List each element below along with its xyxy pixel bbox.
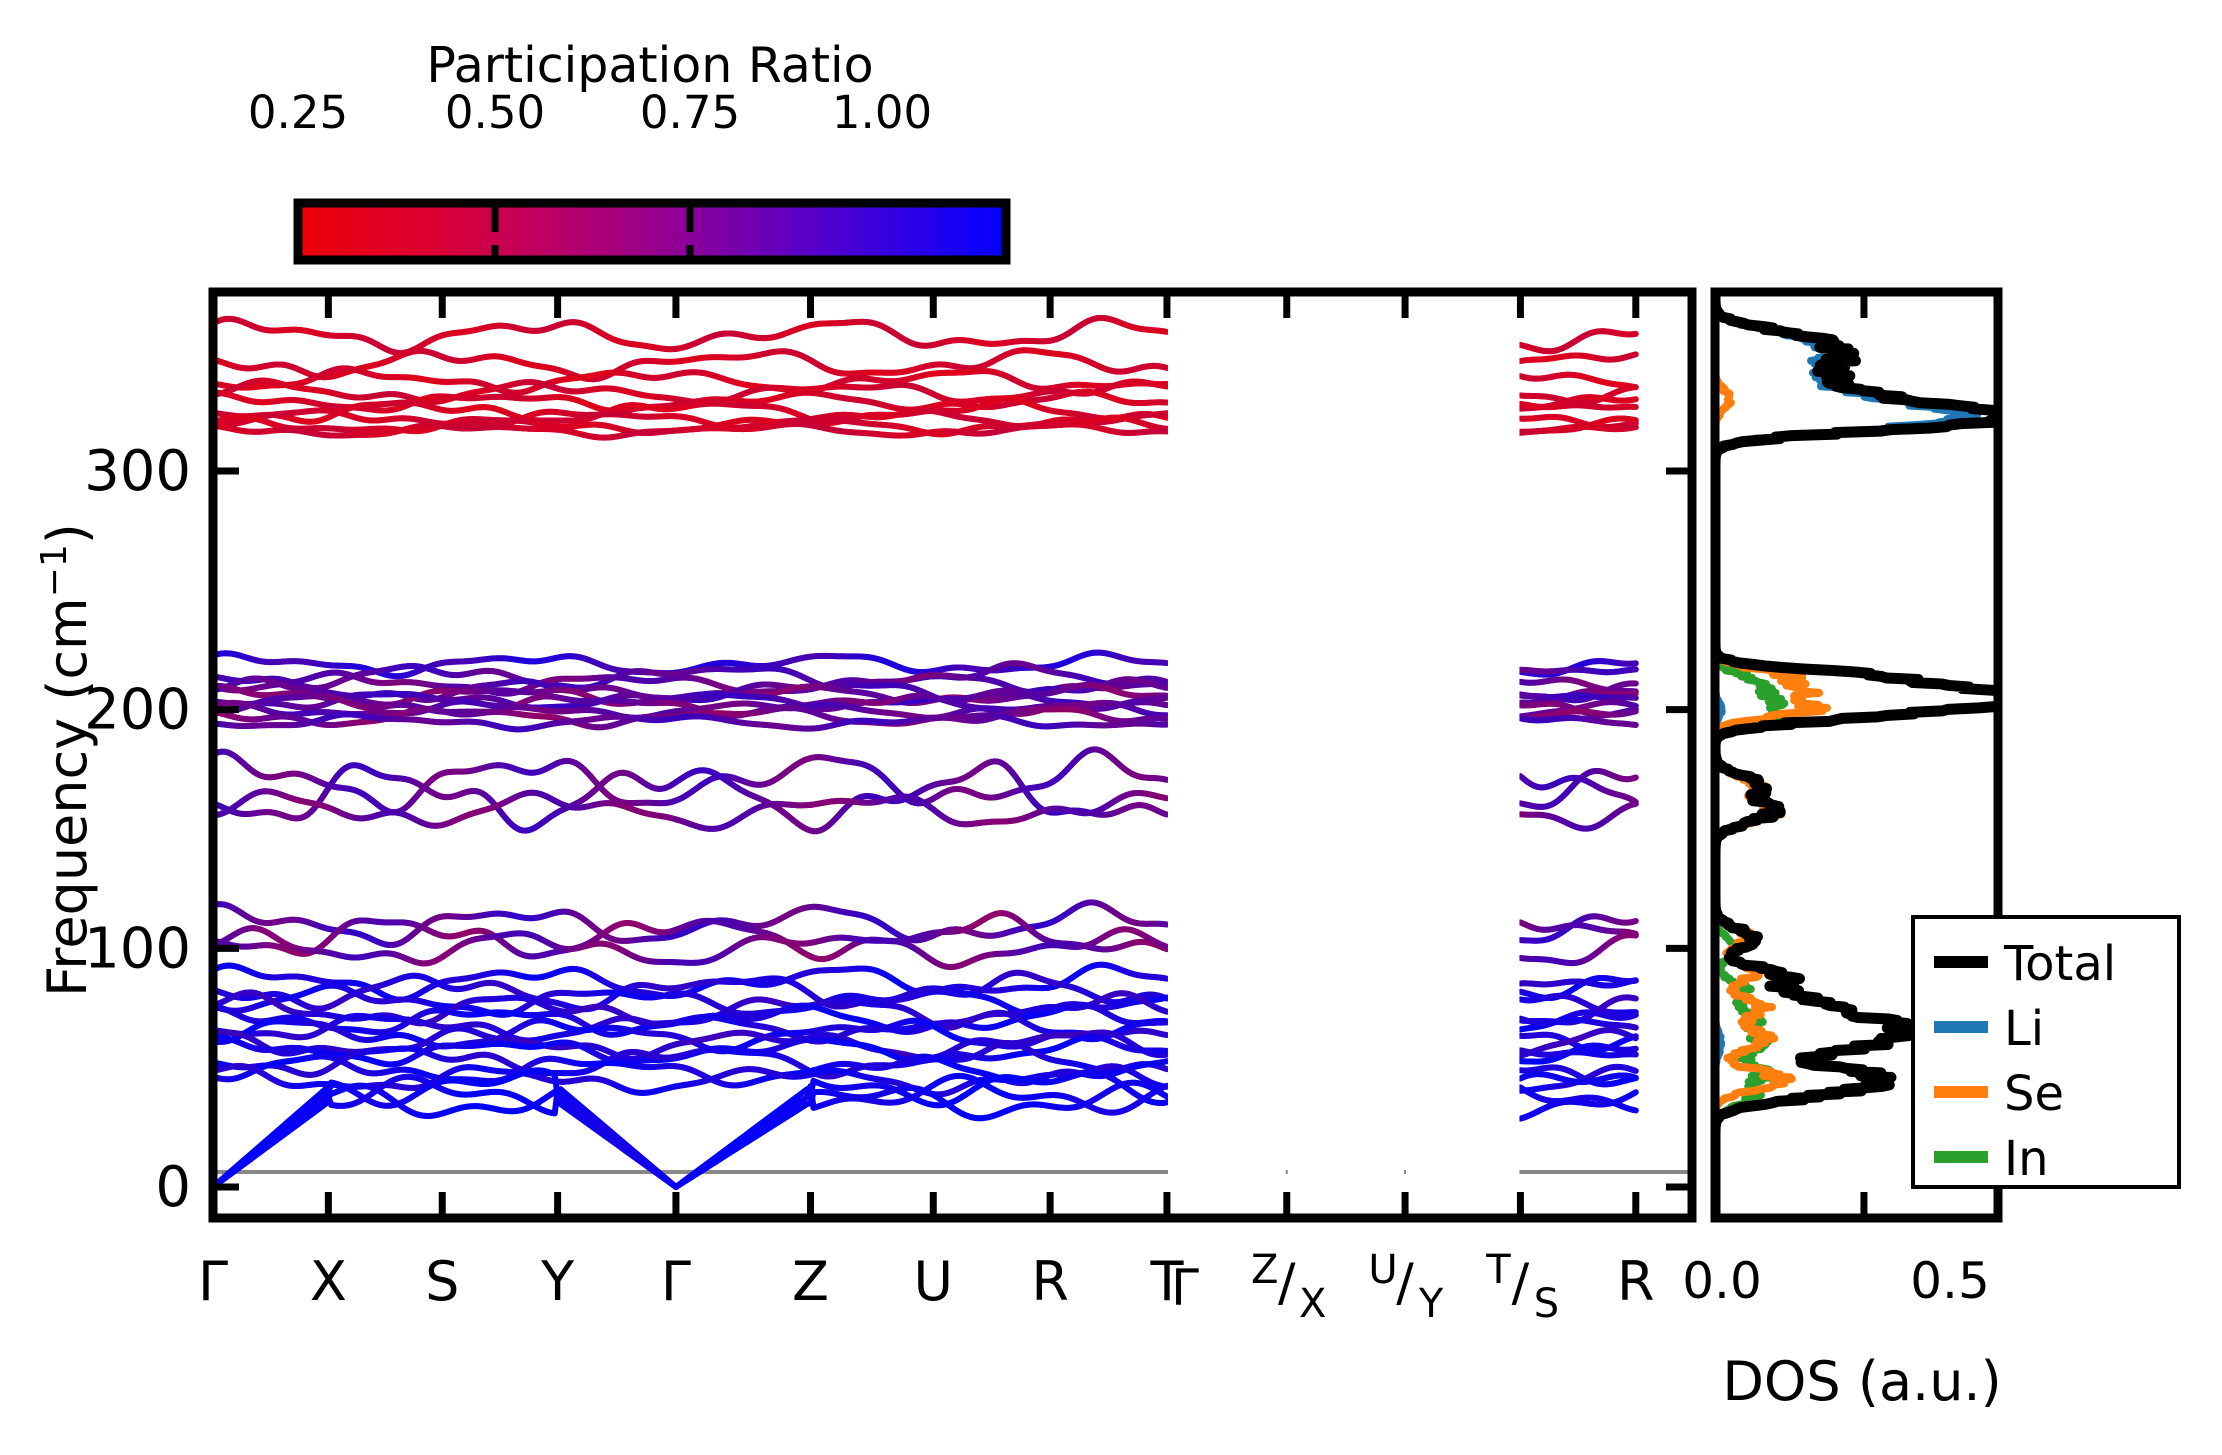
- band-curve-high-1: [1633, 354, 1636, 355]
- phonon-figure: Participation Ratio 0.25 0.50 0.75 1.00 …: [0, 0, 2222, 1455]
- colorbar-tick-label-3: 1.00: [832, 86, 932, 139]
- colorbar-gradient: [298, 203, 1006, 260]
- colorbar-tick-label-2: 0.75: [640, 86, 740, 139]
- band-curve-high-1: [1164, 367, 1167, 368]
- colorbar-tick-label-0: 0.25: [248, 86, 348, 139]
- band-curve-high-0: [1164, 331, 1167, 332]
- band-curve-upper-3: [1164, 687, 1167, 688]
- band-curve-high-5: [1164, 417, 1167, 418]
- band-curve-high-7: [1633, 420, 1636, 421]
- band-curve-high-4: [1633, 399, 1636, 400]
- colorbar-tick-label-1: 0.50: [445, 86, 545, 139]
- band-structure-panel: 0100200300 ΓXSYΓZURTZ/XU/YT/SR Γ: [84, 292, 1692, 1327]
- figure-canvas: Participation Ratio 0.25 0.50 0.75 1.00 …: [0, 0, 2222, 1455]
